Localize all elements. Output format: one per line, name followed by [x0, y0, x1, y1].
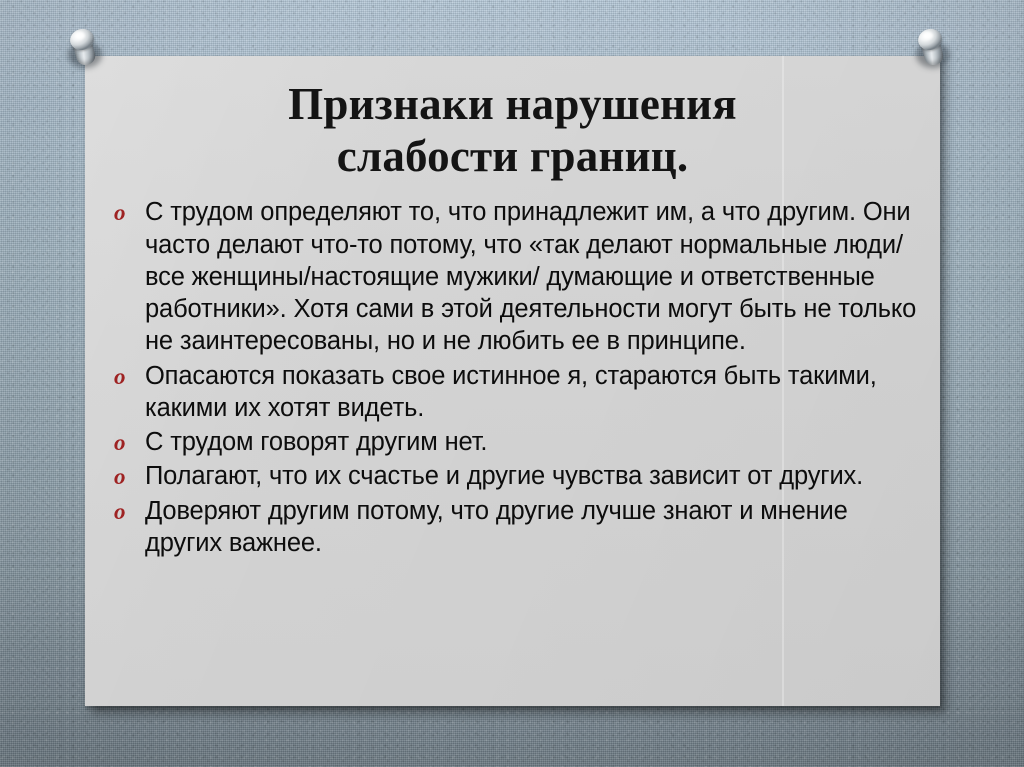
bullet-marker-icon: o [114, 361, 140, 392]
list-item: o Доверяют другим потому, что другие луч… [101, 495, 922, 560]
list-item-text: С трудом говорят другим нет. [145, 428, 487, 456]
page-title: Признаки нарушения слабости границ. [85, 56, 940, 182]
page-title-line-1: Признаки нарушения [127, 78, 898, 130]
pushpin-highlight [923, 32, 933, 39]
page-title-line-2: слабости границ. [127, 130, 898, 182]
bullet-marker-icon: o [114, 461, 140, 492]
pushpin-icon-right [912, 26, 954, 72]
bullet-marker-icon: o [114, 197, 140, 228]
list-item-text: Опасаются показать свое истинное я, стар… [145, 362, 877, 422]
list-item-text: Доверяют другим потому, что другие лучше… [145, 497, 848, 557]
bullet-list: o С трудом определяют то, что принадлежи… [85, 196, 940, 559]
list-item-text: Полагают, что их счастье и другие чувств… [145, 462, 863, 490]
list-item-text: С трудом определяют то, что принадлежит … [145, 198, 916, 355]
pushpin-icon-left [64, 26, 106, 72]
list-item: o С трудом определяют то, что принадлежи… [101, 196, 922, 357]
list-item: o Полагают, что их счастье и другие чувс… [101, 460, 922, 492]
list-item: o Опасаются показать свое истинное я, ст… [101, 360, 922, 425]
bullet-marker-icon: o [114, 496, 140, 527]
bullet-marker-icon: o [114, 427, 140, 458]
pushpin-highlight [75, 32, 85, 39]
slide-stage: Признаки нарушения слабости границ. o С … [0, 0, 1024, 767]
list-item: o С трудом говорят другим нет. [101, 426, 922, 458]
pinned-paper-sheet: Признаки нарушения слабости границ. o С … [85, 56, 940, 706]
